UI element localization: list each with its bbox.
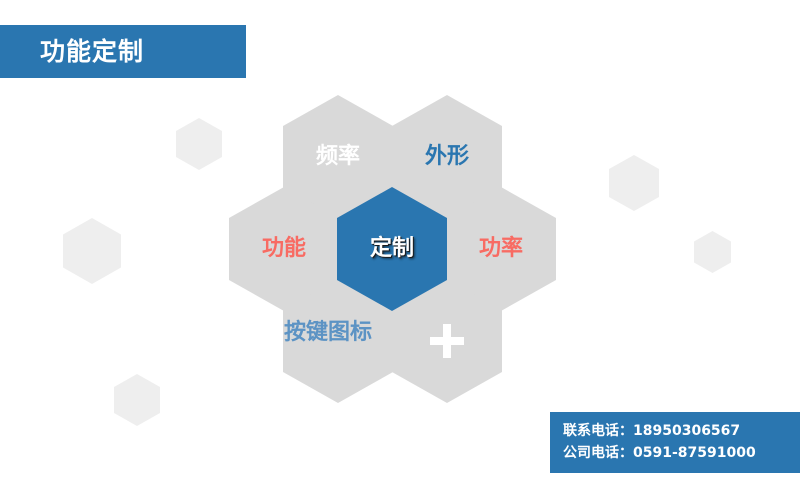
hex-label-shape: 外形 [425,146,469,168]
contact-info-box: 联系电话：18950306567 公司电话：0591-87591000 [550,412,800,473]
slide-canvas: 功能定制 频率 外形 功能 功率 按键图标 定 [0,0,800,500]
plus-icon [430,324,464,358]
hex-label-center: 定制 [370,238,414,260]
hex-label-power: 功率 [479,238,523,260]
contact-office-line: 公司电话：0591-87591000 [563,442,800,464]
hex-label-key-icon: 按键图标 [284,322,372,344]
hex-label-function: 功能 [262,238,306,260]
hex-label-frequency: 频率 [316,146,360,168]
contact-mobile-line: 联系电话：18950306567 [563,420,800,442]
